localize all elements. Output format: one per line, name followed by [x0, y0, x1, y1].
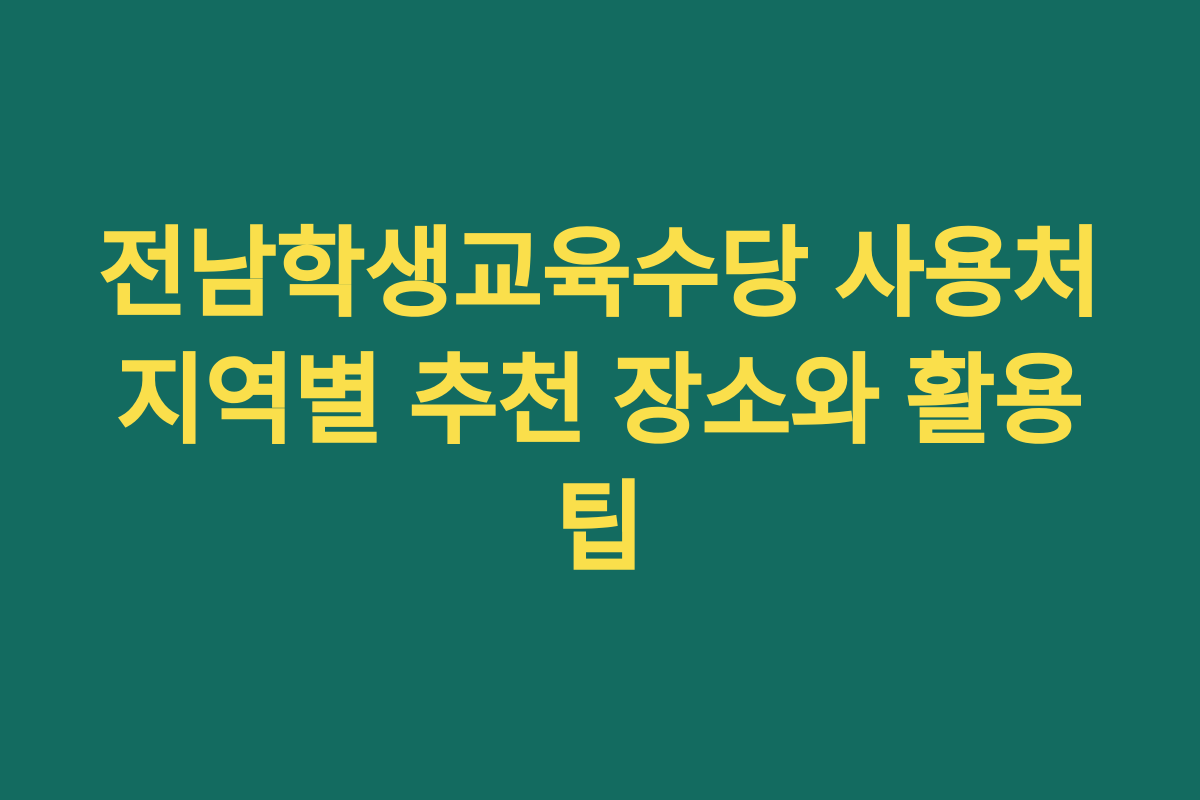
- thumbnail-canvas: 전남학생교육수당 사용처 지역별 추천 장소와 활용 팁: [0, 0, 1200, 800]
- page-title: 전남학생교육수당 사용처 지역별 추천 장소와 활용 팁: [95, 210, 1105, 591]
